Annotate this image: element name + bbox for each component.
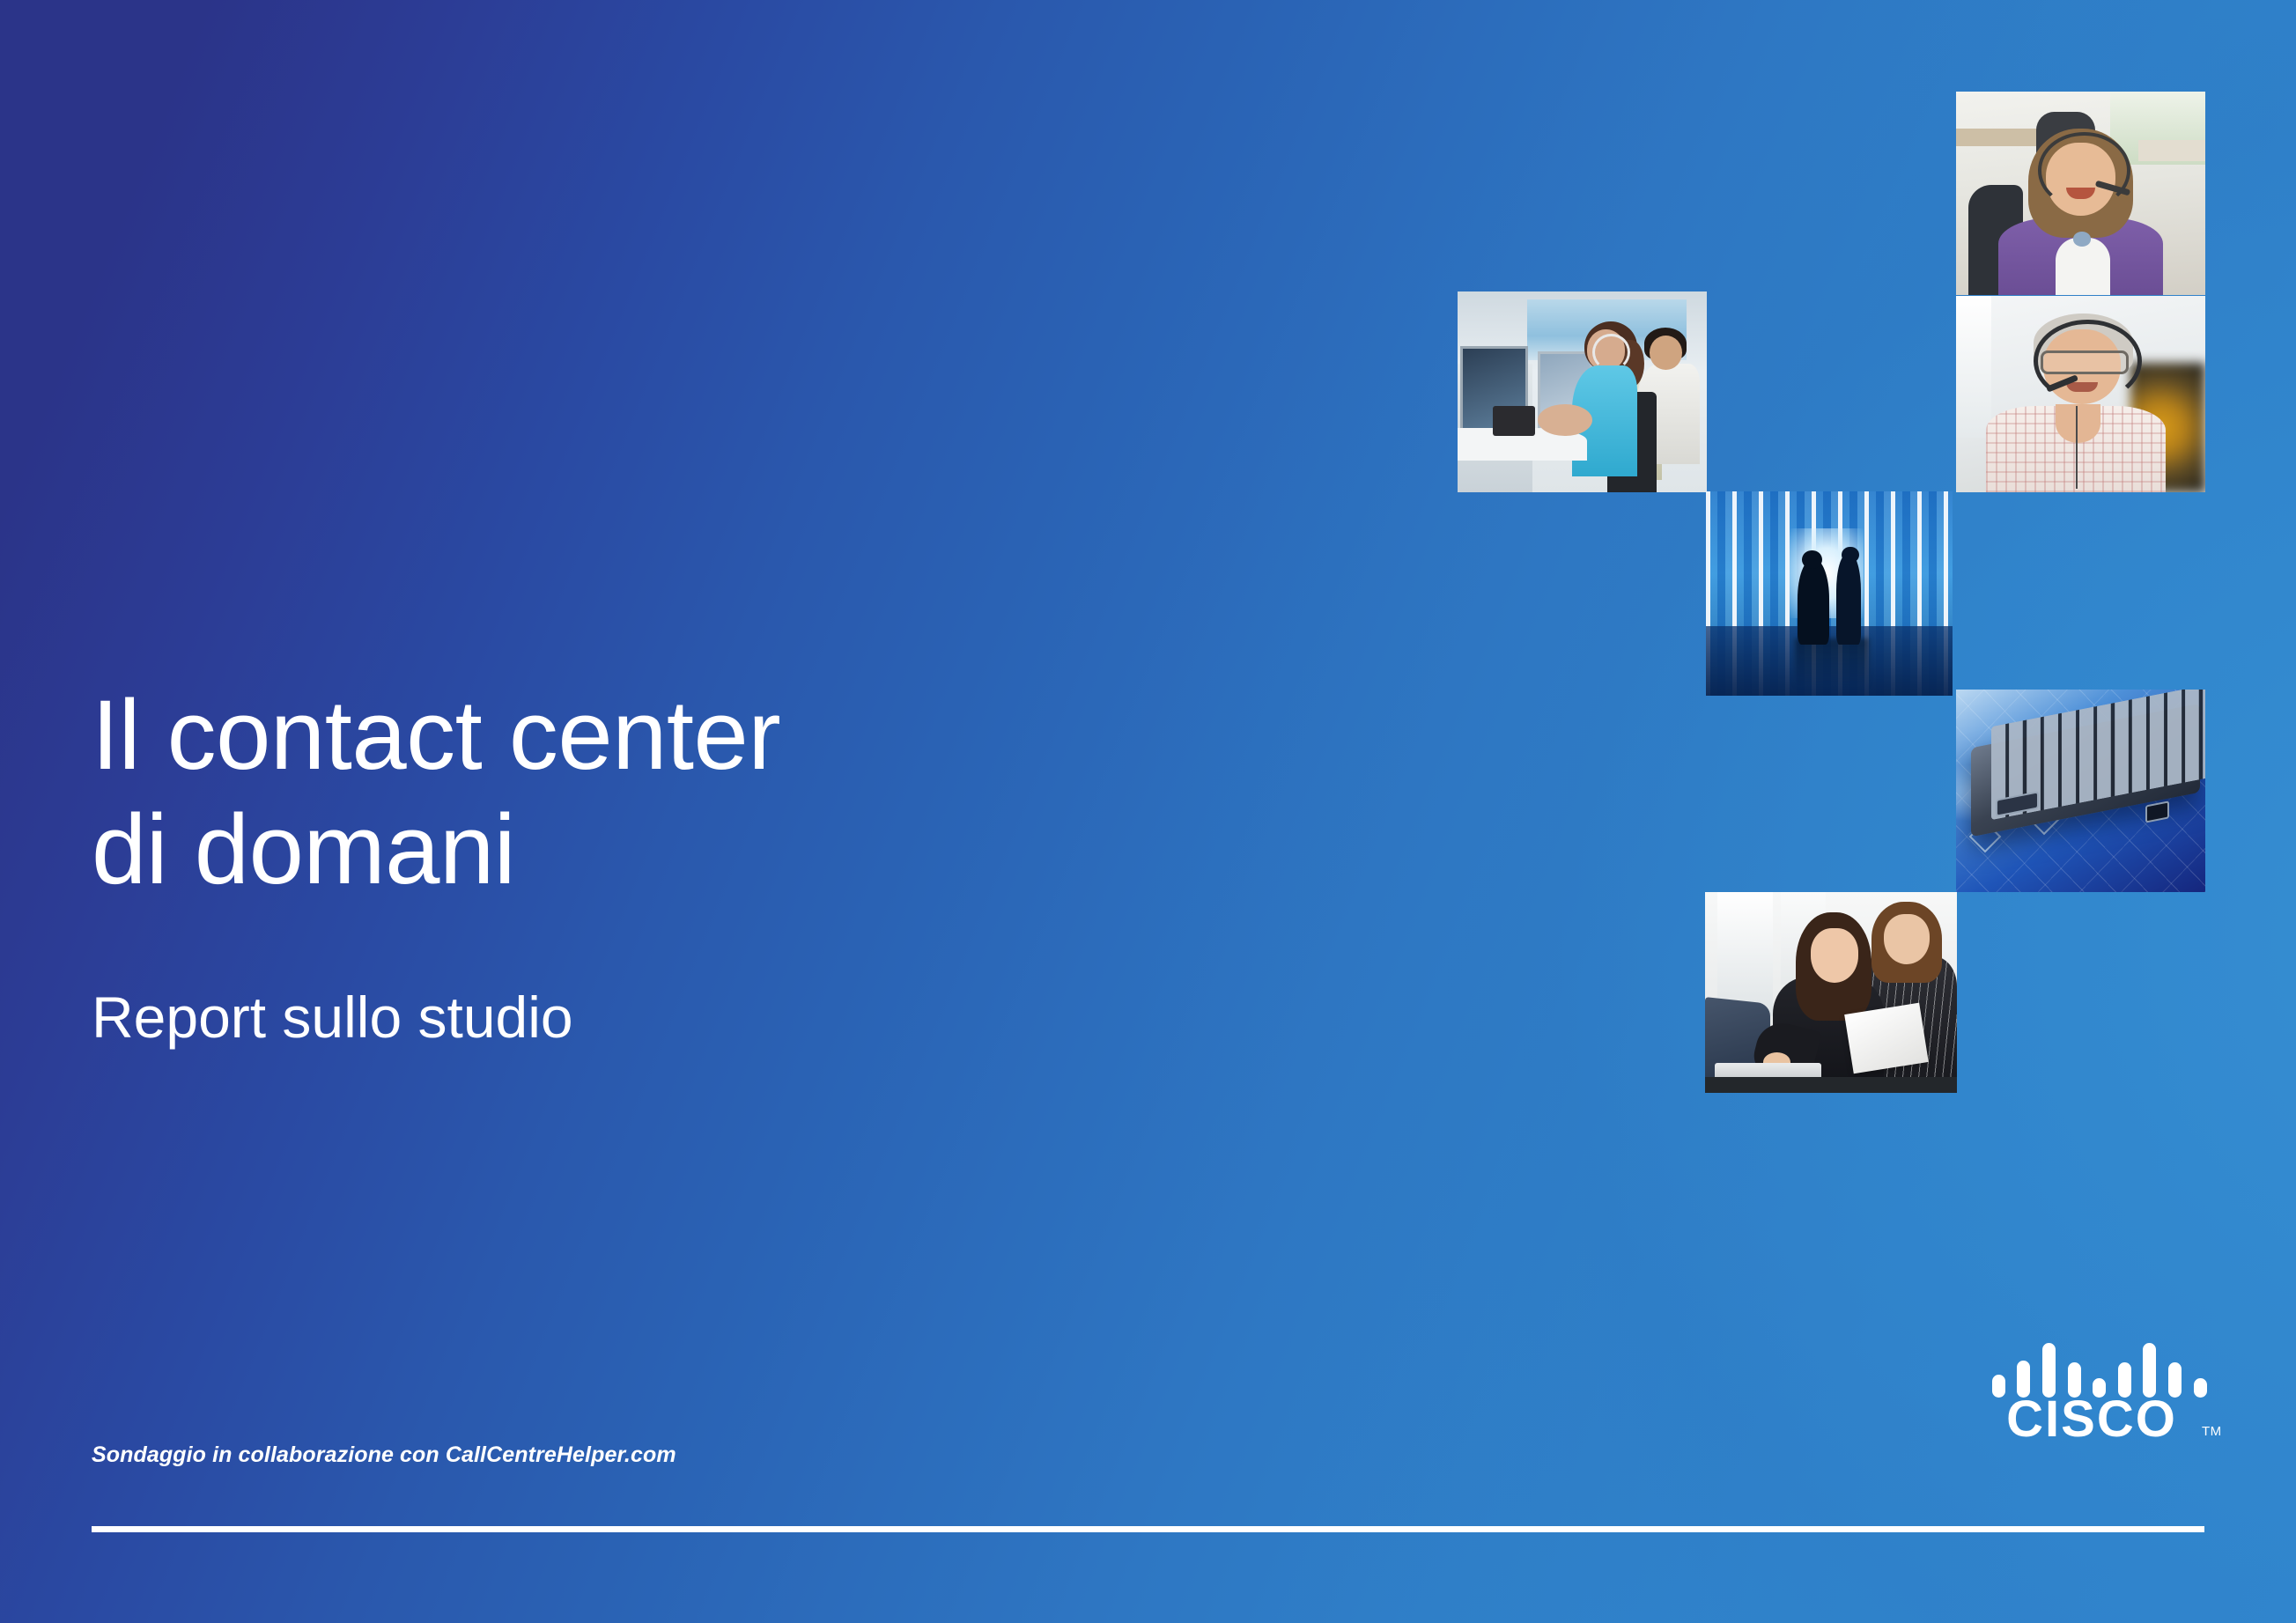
photo-woman-headset-icon [1956, 92, 2205, 295]
photo-blue-corridor-icon [1706, 491, 1953, 696]
cisco-bridge-icon [1992, 1339, 2207, 1398]
photo-call-center-agents-icon [1458, 291, 1707, 492]
photo-two-businesswomen-icon [1705, 892, 1957, 1093]
footer-divider [92, 1526, 2204, 1532]
cisco-logo: CISCO TM [1984, 1339, 2215, 1436]
photo-laptop-keyboard-icon [1956, 690, 2205, 892]
cisco-wordmark: CISCO [1984, 1394, 2199, 1445]
collaboration-credit: Sondaggio in collaborazione con CallCent… [92, 1442, 676, 1468]
page-subtitle: Report sullo studio [92, 907, 1237, 1052]
page-title: Il contact center di domani [92, 678, 1237, 907]
trademark-mark: TM [2202, 1424, 2222, 1439]
photo-man-headset-icon [1956, 296, 2205, 492]
report-cover-slide: Il contact center di domani Report sullo… [0, 0, 2296, 1623]
title-block: Il contact center di domani Report sullo… [92, 678, 1237, 1052]
